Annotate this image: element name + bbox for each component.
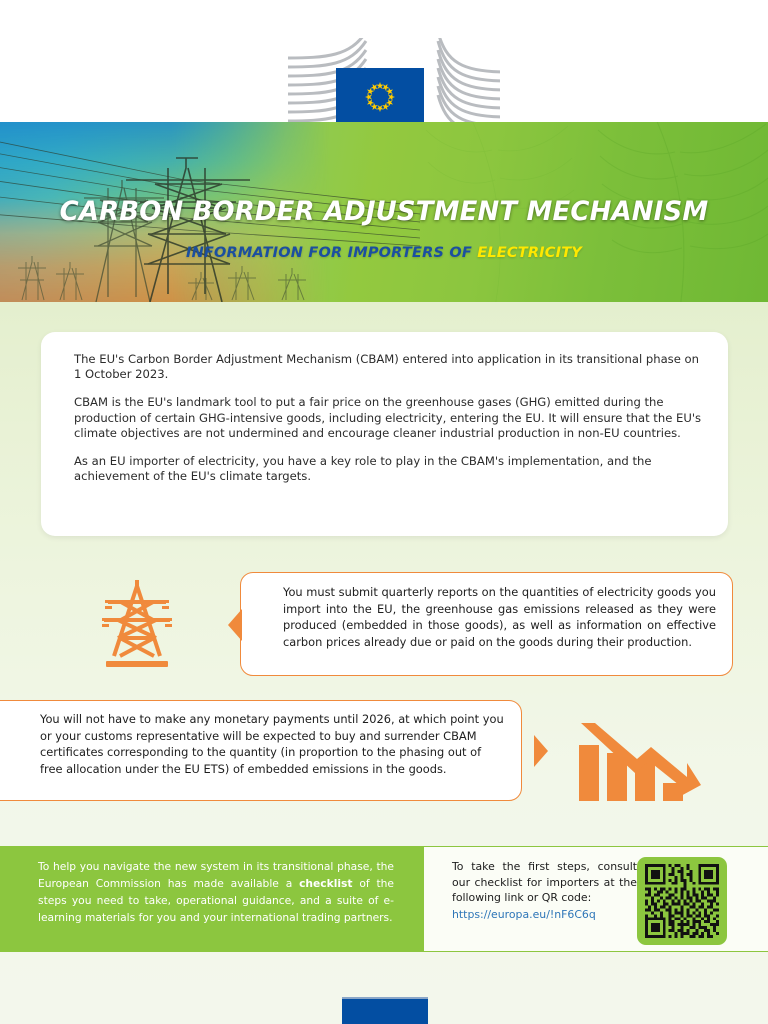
callout1-text: You must submit quarterly reports on the… [283,584,716,650]
guidance-text: To help you navigate the new system in i… [38,858,394,926]
qr-instruction-text: To take the first steps, consult our che… [452,859,637,906]
declining-bar-chart-icon [575,723,701,803]
callout-pointer-left-icon [228,609,242,641]
callout-pointer-right-icon [534,735,548,767]
logo-swoosh-right-icon [436,38,500,130]
callout-payments-timeline: You will not have to make any monetary p… [0,700,522,801]
subtitle-main: INFORMATION FOR IMPORTERS OF [186,245,477,261]
checklist-link[interactable]: https://europa.eu/!nF6C6q [452,907,637,923]
guidance-bold-word: checklist [299,877,352,890]
eu-flag-icon [336,68,424,126]
footer-eu-flag-fragment [342,997,428,1024]
qr-panel: To take the first steps, consult our che… [424,846,768,952]
callout-reporting-obligation: You must submit quarterly reports on the… [240,572,733,676]
intro-paragraph-1: The EU's Carbon Border Adjustment Mechan… [74,352,702,382]
intro-paragraph-3: As an EU importer of electricity, you ha… [74,454,702,484]
intro-paragraph-2: CBAM is the EU's landmark tool to put a … [74,395,702,441]
callout2-text: You will not have to make any monetary p… [40,711,507,777]
electricity-pylon-icon [98,576,176,670]
guidance-panel: To help you navigate the new system in i… [0,846,424,952]
page-title: CARBON BORDER ADJUSTMENT MECHANISM [15,196,752,227]
infographic-page: European Commission [0,0,768,1024]
qr-instructions: To take the first steps, consult our che… [452,859,637,922]
intro-card: The EU's Carbon Border Adjustment Mechan… [41,332,728,536]
page-subtitle: INFORMATION FOR IMPORTERS OF ELECTRICITY [0,245,768,261]
qr-code[interactable] [637,857,727,945]
subtitle-highlight: ELECTRICITY [477,245,582,261]
